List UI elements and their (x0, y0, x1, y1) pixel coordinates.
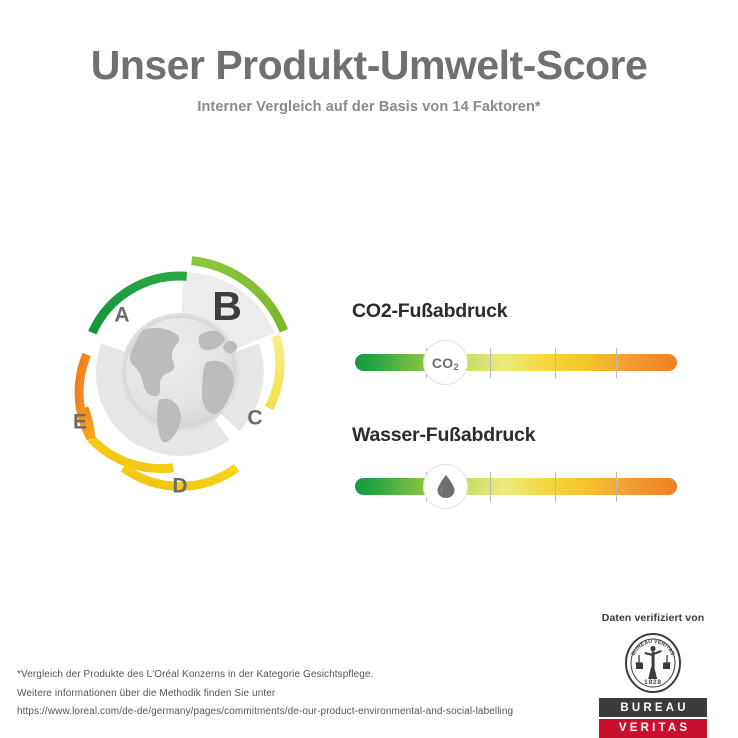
gauge-arc-c-main (269, 336, 280, 408)
page-title: Unser Produkt-Umwelt-Score (0, 44, 738, 87)
co2-icon: CO2 (432, 355, 459, 371)
page-subtitle: Interner Vergleich auf der Basis von 14 … (0, 99, 738, 115)
gauge-label-c: C (247, 407, 262, 430)
water-marker (423, 464, 468, 509)
water-tick-3 (555, 472, 556, 502)
gauge-label-d: D (172, 475, 187, 498)
co2-gradient-bar (355, 354, 677, 371)
co2-footprint-scale: CO2 (352, 340, 692, 386)
footnotes: *Vergleich der Produkte des L'Oréal Konz… (17, 666, 577, 722)
bureau-veritas-wordmark-top: BUREAU (599, 698, 707, 717)
gauge-label-a: A (114, 304, 129, 327)
bureau-veritas-wordmark-bottom: VERITAS (599, 719, 707, 738)
water-footprint-scale (352, 464, 692, 510)
verification-label: Daten verifiziert von (573, 612, 733, 624)
co2-marker: CO2 (423, 340, 468, 385)
water-footprint-block: Wasser-Fußabdruck (352, 424, 692, 510)
footprint-panel: CO2-Fußabdruck CO2 Wasser-Fußabdruck (352, 300, 692, 548)
co2-footprint-title: CO2-Fußabdruck (352, 300, 692, 323)
environmental-score-gauge: A B C D E (30, 222, 330, 522)
water-footprint-title: Wasser-Fußabdruck (352, 424, 692, 447)
water-drop-icon (436, 474, 456, 499)
co2-tick-3 (555, 348, 556, 378)
water-gradient-bar (355, 478, 677, 495)
footnote-line-2: Weitere informationen über die Methodik … (17, 685, 577, 704)
co2-tick-4 (616, 348, 617, 378)
footnote-line-1: *Vergleich der Produkte des L'Oréal Konz… (17, 666, 577, 685)
water-tick-4 (616, 472, 617, 502)
header: Unser Produkt-Umwelt-Score Interner Verg… (0, 44, 738, 115)
co2-footprint-block: CO2-Fußabdruck CO2 (352, 300, 692, 386)
gauge-label-e: E (73, 411, 87, 434)
bureau-veritas-emblem-icon: 1828 BUREAU VERITAS (622, 633, 684, 693)
gauge-label-b: B (212, 283, 242, 329)
footnote-line-3: https://www.loreal.com/de-de/germany/pag… (17, 703, 577, 722)
co2-tick-2 (490, 348, 491, 378)
bureau-veritas-logo: 1828 BUREAU VERITAS BUREAU VERITAS (599, 633, 707, 738)
svg-text:1828: 1828 (644, 679, 662, 686)
verification-block: Daten verifiziert von 1828 BUREAU (573, 612, 733, 738)
water-tick-2 (490, 472, 491, 502)
